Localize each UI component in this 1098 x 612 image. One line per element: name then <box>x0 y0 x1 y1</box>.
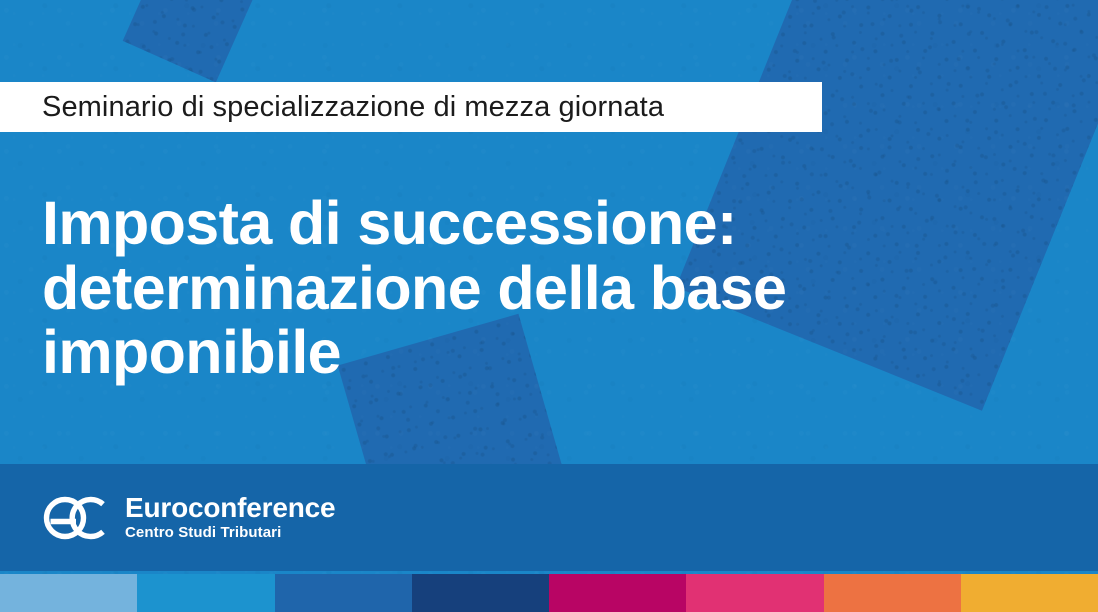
color-swatch-light-blue <box>0 574 137 612</box>
euroconference-logo: Euroconference Centro Studi Tributari <box>40 493 335 543</box>
brand-color-bar <box>0 574 1098 612</box>
page-title: Imposta di successione: determinazione d… <box>42 191 962 385</box>
color-swatch-amber <box>961 574 1098 612</box>
logo-wordmark: Euroconference Centro Studi Tributari <box>125 493 335 541</box>
color-swatch-azure <box>137 574 274 612</box>
color-swatch-navy <box>412 574 549 612</box>
seminar-banner: Seminario di specializzazione di mezza g… <box>0 0 1098 612</box>
color-swatch-medium-blue <box>275 574 412 612</box>
headline-line-2: determinazione della base <box>42 256 962 321</box>
color-swatch-orange <box>824 574 961 612</box>
banner-footer: Euroconference Centro Studi Tributari <box>0 464 1098 571</box>
color-swatch-magenta <box>549 574 686 612</box>
eyebrow-text: Seminario di specializzazione di mezza g… <box>42 93 664 122</box>
eyebrow-label: Seminario di specializzazione di mezza g… <box>0 82 822 132</box>
logo-name: Euroconference <box>125 493 335 522</box>
color-swatch-pink <box>686 574 823 612</box>
headline-line-1: Imposta di successione: <box>42 191 962 256</box>
headline-line-3: imponibile <box>42 320 962 385</box>
logo-tagline: Centro Studi Tributari <box>125 524 335 542</box>
ec-monogram-icon <box>40 493 112 543</box>
banner-content: Seminario di specializzazione di mezza g… <box>0 0 1098 612</box>
